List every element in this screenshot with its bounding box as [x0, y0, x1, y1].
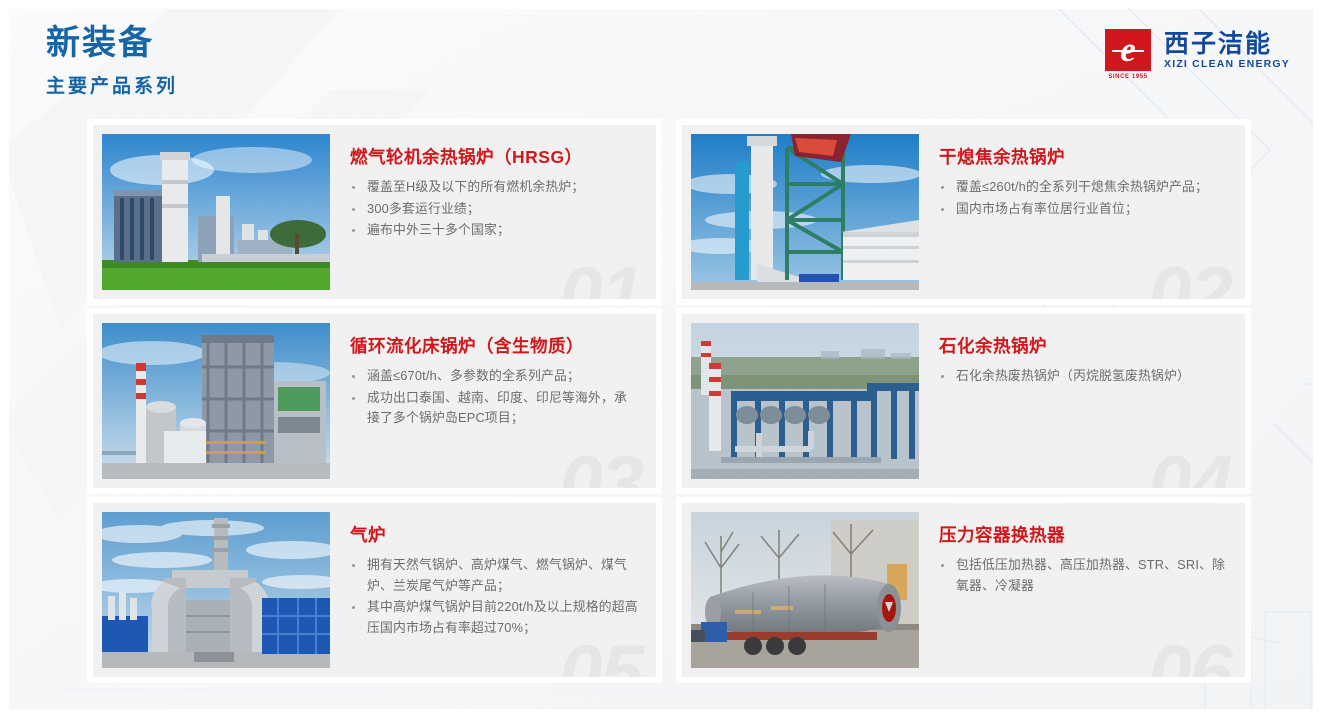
product-photo-gas-turbine [102, 134, 330, 290]
card-title: 石化余热锅炉 [939, 336, 1227, 357]
product-photo-petrochemical [691, 323, 919, 479]
product-card[interactable]: 04 [682, 314, 1245, 488]
product-card[interactable]: 06 [682, 503, 1245, 677]
product-card[interactable]: 02 [682, 125, 1245, 299]
page-title: 新装备 [46, 24, 178, 63]
product-photo-gas-fired-boiler [102, 512, 330, 668]
logo-name-en: XIZI CLEAN ENERGY [1164, 58, 1290, 70]
list-item: 遍布中外三十多个国家； [350, 220, 638, 241]
list-item: 包括低压加热器、高压加热器、STR、SRI、除氧器、冷凝器 [939, 555, 1227, 596]
brand-logo: e SINCE 1955 西子洁能 XIZI CLEAN ENERGY [1102, 29, 1290, 80]
logo-crossbar [1112, 50, 1144, 52]
list-item: 成功出口泰国、越南、印度、印尼等海外，承接了多个锅炉岛EPC项目； [350, 388, 638, 429]
logo-badge-icon: e [1105, 29, 1151, 71]
product-photo-pressure-vessel [691, 512, 919, 668]
card-body: 循环流化床锅炉（含生物质） 涵盖≤670t/h、多参数的全系列产品； 成功出口泰… [330, 314, 656, 488]
card-title: 循环流化床锅炉（含生物质） [350, 336, 638, 357]
card-body: 气炉 拥有天然气锅炉、高炉煤气、燃气锅炉、煤气炉、兰炭尾气炉等产品； 其中高炉煤… [330, 503, 656, 677]
card-bullet-list: 石化余热废热锅炉（丙烷脱氢废热锅炉） [939, 366, 1227, 387]
list-item: 300多套运行业绩； [350, 199, 638, 220]
card-title: 干熄焦余热锅炉 [939, 147, 1227, 168]
product-photo-cfb-boiler [102, 323, 330, 479]
product-card[interactable]: 05 [93, 503, 656, 677]
card-title: 燃气轮机余热锅炉（HRSG） [350, 147, 638, 168]
logo-name-cn: 西子洁能 [1164, 31, 1290, 57]
product-photo-coke-dry-quenching [691, 134, 919, 290]
logo-letter: e [1120, 32, 1136, 67]
card-body: 石化余热锅炉 石化余热废热锅炉（丙烷脱氢废热锅炉） [919, 314, 1245, 488]
card-body: 干熄焦余热锅炉 覆盖≤260t/h的全系列干熄焦余热锅炉产品； 国内市场占有率位… [919, 125, 1245, 299]
product-card[interactable]: 03 [93, 314, 656, 488]
list-item: 覆盖≤260t/h的全系列干熄焦余热锅炉产品； [939, 177, 1227, 198]
slide-canvas: 新装备 主要产品系列 e SINCE 1955 西子洁能 XIZI CLEAN … [0, 0, 1322, 718]
card-bullet-list: 覆盖≤260t/h的全系列干熄焦余热锅炉产品； 国内市场占有率位居行业首位； [939, 177, 1227, 219]
slide-header: 新装备 主要产品系列 [46, 24, 178, 98]
list-item: 涵盖≤670t/h、多参数的全系列产品； [350, 366, 638, 387]
list-item: 覆盖至H级及以下的所有燃机余热炉； [350, 177, 638, 198]
list-item: 石化余热废热锅炉（丙烷脱氢废热锅炉） [939, 366, 1227, 387]
product-card[interactable]: 01 [93, 125, 656, 299]
card-title: 气炉 [350, 525, 638, 546]
card-bullet-list: 包括低压加热器、高压加热器、STR、SRI、除氧器、冷凝器 [939, 555, 1227, 596]
card-bullet-list: 拥有天然气锅炉、高炉煤气、燃气锅炉、煤气炉、兰炭尾气炉等产品； 其中高炉煤气锅炉… [350, 555, 638, 639]
list-item: 国内市场占有率位居行业首位； [939, 199, 1227, 220]
product-card-grid: 01 [93, 125, 1245, 677]
logo-wordmark: 西子洁能 XIZI CLEAN ENERGY [1164, 29, 1290, 70]
list-item: 拥有天然气锅炉、高炉煤气、燃气锅炉、煤气炉、兰炭尾气炉等产品； [350, 555, 638, 596]
card-body: 压力容器换热器 包括低压加热器、高压加热器、STR、SRI、除氧器、冷凝器 [919, 503, 1245, 677]
card-bullet-list: 覆盖至H级及以下的所有燃机余热炉； 300多套运行业绩； 遍布中外三十多个国家； [350, 177, 638, 241]
page-subtitle: 主要产品系列 [46, 71, 178, 98]
logo-mark: e SINCE 1955 [1102, 29, 1154, 80]
logo-since-text: SINCE 1955 [1108, 74, 1147, 80]
list-item: 其中高炉煤气锅炉目前220t/h及以上规格的超高压国内市场占有率超过70%； [350, 597, 638, 638]
card-body: 燃气轮机余热锅炉（HRSG） 覆盖至H级及以下的所有燃机余热炉； 300多套运行… [330, 125, 656, 299]
card-bullet-list: 涵盖≤670t/h、多参数的全系列产品； 成功出口泰国、越南、印度、印尼等海外，… [350, 366, 638, 429]
card-title: 压力容器换热器 [939, 525, 1227, 546]
